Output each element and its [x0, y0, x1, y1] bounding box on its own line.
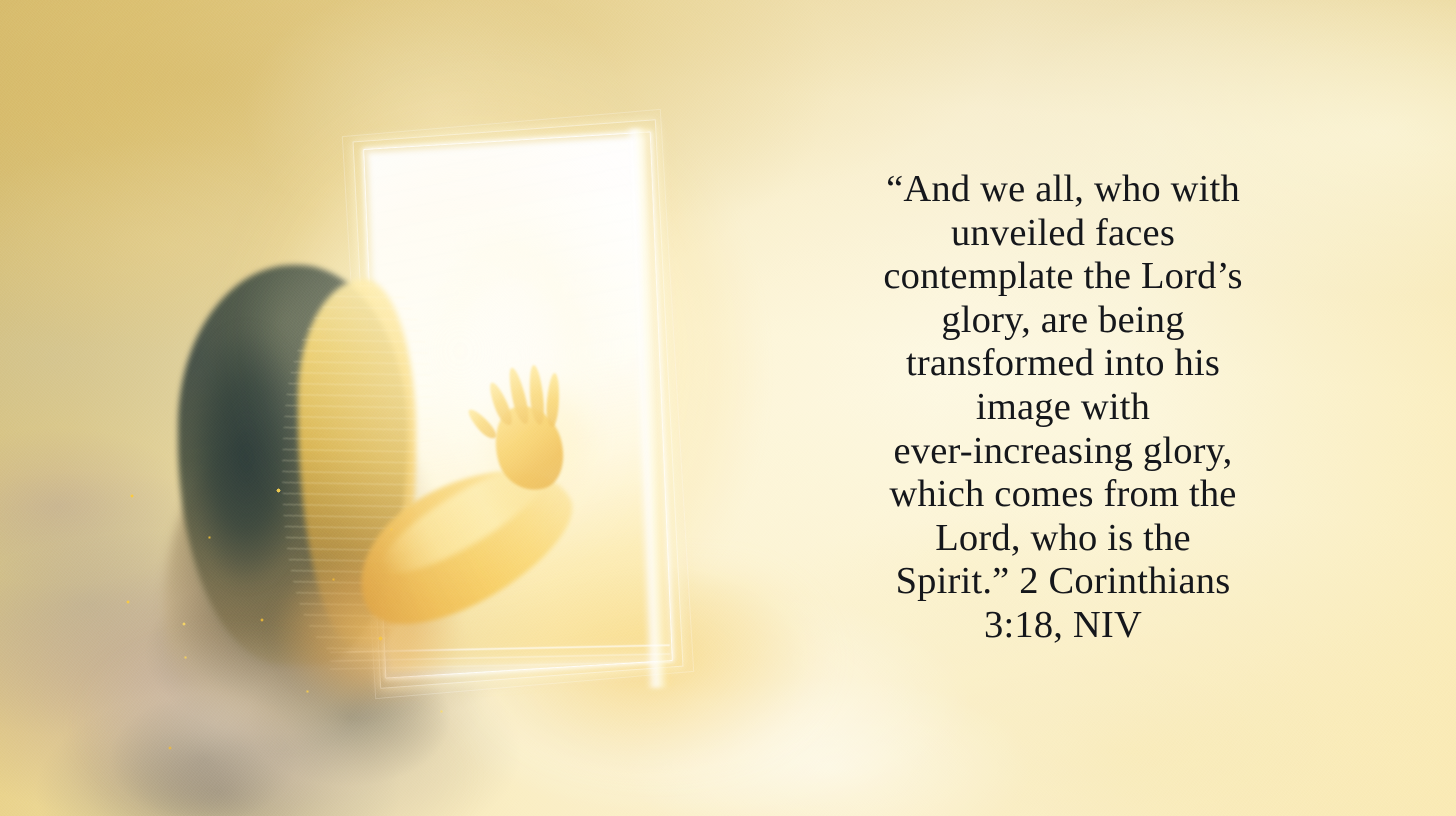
verse-text: “And we all, who with unveiled faces con… — [790, 168, 1336, 648]
verse-block: “And we all, who with unveiled faces con… — [790, 168, 1336, 648]
quote-graphic-canvas: “And we all, who with unveiled faces con… — [0, 0, 1456, 816]
scene-light-bloom — [200, 40, 820, 780]
